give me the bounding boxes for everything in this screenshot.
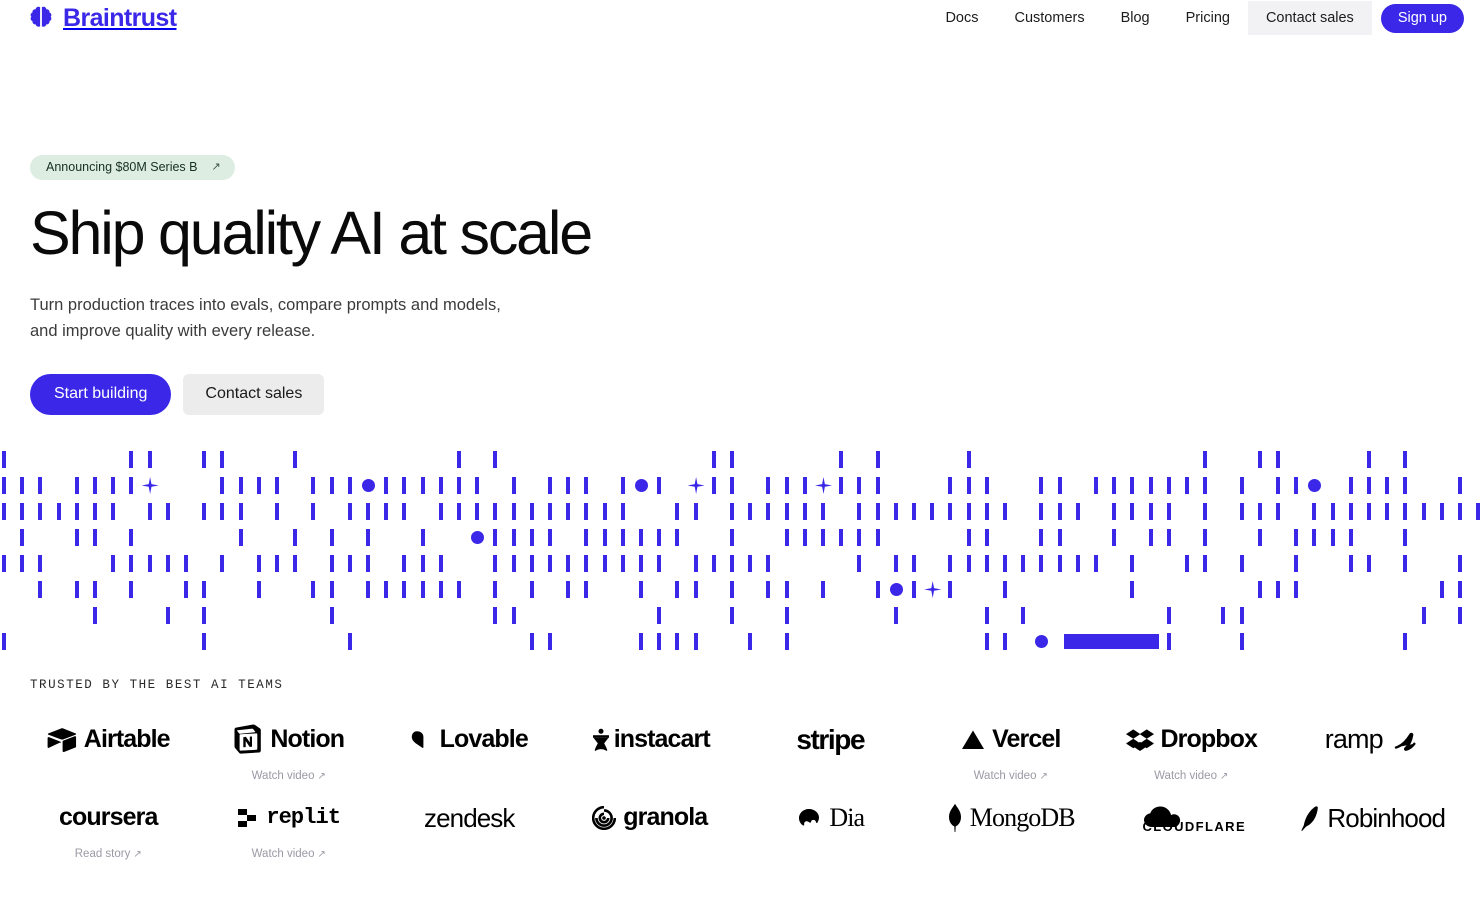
pattern-tick <box>730 607 734 624</box>
pattern-tick <box>785 529 789 546</box>
pattern-tick <box>493 581 497 598</box>
braintrust-logo-icon <box>28 5 54 31</box>
pattern-tick <box>1294 581 1298 598</box>
pattern-tick <box>493 451 497 468</box>
pattern-tick <box>1258 581 1262 598</box>
sign-up-button[interactable]: Sign up <box>1381 4 1464 33</box>
pattern-tick <box>930 503 934 520</box>
pattern-tick <box>1130 555 1134 572</box>
pattern-tick <box>1349 503 1353 520</box>
logo-cell-stripe: stripe <box>740 714 921 792</box>
logo-wordmark-zendesk: zendesk <box>424 805 515 831</box>
pattern-tick <box>584 477 588 494</box>
pattern-tick <box>1258 529 1262 546</box>
pattern-tick <box>1167 633 1171 650</box>
pattern-tick <box>894 503 898 520</box>
pattern-tick <box>1076 503 1080 520</box>
pattern-tick <box>876 451 880 468</box>
pattern-tick <box>421 555 425 572</box>
pattern-tick <box>566 477 570 494</box>
pattern-tick <box>2 633 6 650</box>
pattern-tick <box>639 529 643 546</box>
pattern-tick <box>20 477 24 494</box>
pattern-sparkle <box>924 581 941 598</box>
arrow-up-right-icon: ↗ <box>1220 771 1228 782</box>
pattern-tick <box>948 477 952 494</box>
pattern-tick <box>1385 477 1389 494</box>
pattern-tick <box>1458 607 1462 624</box>
pattern-tick <box>512 529 516 546</box>
granola-logo-icon <box>592 806 616 830</box>
pattern-tick <box>675 581 679 598</box>
pattern-tick <box>239 529 243 546</box>
pattern-tick <box>785 581 789 598</box>
logo-wordmark-coursera: coursera <box>59 805 157 830</box>
pattern-tick <box>220 503 224 520</box>
pattern-tick <box>1058 477 1062 494</box>
pattern-tick <box>57 503 61 520</box>
hero-subtitle: Turn production traces into evals, compa… <box>30 292 510 345</box>
pattern-tick <box>1422 607 1426 624</box>
pattern-tick <box>475 503 479 520</box>
pattern-tick <box>876 477 880 494</box>
contact-sales-button[interactable]: Contact sales <box>183 374 324 415</box>
logo-cell-instacart: instacart <box>560 714 741 792</box>
nav-link-customers[interactable]: Customers <box>996 1 1102 35</box>
pattern-tick <box>566 503 570 520</box>
pattern-tick <box>184 555 188 572</box>
pattern-tick <box>311 581 315 598</box>
mongodb-logo-icon <box>947 803 963 833</box>
logo-sub-label: Read story <box>75 848 131 860</box>
pattern-tick <box>129 555 133 572</box>
pattern-tick <box>366 503 370 520</box>
logo-art-stripe: stripe <box>796 720 864 760</box>
pattern-tick <box>530 555 534 572</box>
dia-logo-icon <box>796 807 822 829</box>
pattern-tick <box>348 477 352 494</box>
pattern-tick <box>657 555 661 572</box>
pattern-tick <box>712 555 716 572</box>
pattern-tick <box>712 451 716 468</box>
pattern-tick <box>20 555 24 572</box>
nav-link-docs[interactable]: Docs <box>927 1 996 35</box>
page-title: Ship quality AI at scale <box>30 203 1480 264</box>
pattern-tick <box>1331 529 1335 546</box>
pattern-tick <box>1203 477 1207 494</box>
pattern-tick <box>93 581 97 598</box>
pattern-tick <box>1039 529 1043 546</box>
arrow-up-right-icon: ↗ <box>317 849 325 860</box>
pattern-tick <box>1203 451 1207 468</box>
pattern-tick <box>93 503 97 520</box>
logo-art-notion: Notion <box>233 720 344 760</box>
pattern-tick <box>1349 529 1353 546</box>
pattern-dot <box>1308 479 1321 492</box>
pattern-tick <box>948 581 952 598</box>
pattern-tick <box>1367 503 1371 520</box>
pattern-tick <box>1458 503 1462 520</box>
arrow-up-right-icon: ↗ <box>211 162 220 173</box>
pattern-dot <box>1035 635 1048 648</box>
pattern-tick <box>639 581 643 598</box>
logo-cell-dropbox: DropboxWatch video↗ <box>1101 714 1282 792</box>
logo-wordmark-stripe: stripe <box>796 726 864 754</box>
pattern-tick <box>1240 477 1244 494</box>
pattern-tick <box>1403 477 1407 494</box>
pattern-tick <box>948 555 952 572</box>
pattern-tick <box>912 503 916 520</box>
pattern-tick <box>1167 607 1171 624</box>
pattern-tick <box>239 503 243 520</box>
logo-wordmark-airtable: Airtable <box>84 727 170 752</box>
pattern-tick <box>985 555 989 572</box>
notion-logo-icon <box>233 724 263 756</box>
pattern-tick <box>493 607 497 624</box>
pattern-tick <box>166 607 170 624</box>
pattern-tick <box>785 607 789 624</box>
pattern-tick <box>1203 529 1207 546</box>
logo-sub-label: Watch video <box>974 770 1037 782</box>
nav-link-contact-sales[interactable]: Contact sales <box>1248 1 1372 35</box>
logo-wordmark-lovable: Lovable <box>440 727 528 752</box>
pattern-tick <box>967 555 971 572</box>
pattern-tick <box>821 581 825 598</box>
pattern-tick <box>1458 581 1462 598</box>
pattern-tick <box>548 477 552 494</box>
nav-link-pricing[interactable]: Pricing <box>1168 1 1248 35</box>
pattern-tick <box>675 529 679 546</box>
pattern-tick <box>821 529 825 546</box>
logo-wordmark-ramp: ramp <box>1325 726 1383 753</box>
pattern-tick <box>2 503 6 520</box>
pattern-tick <box>566 555 570 572</box>
pattern-tick <box>603 529 607 546</box>
pattern-tick <box>366 581 370 598</box>
pattern-tick <box>1149 503 1153 520</box>
pattern-tick <box>857 503 861 520</box>
logo-sub-link-coursera[interactable]: Read story↗ <box>75 848 142 860</box>
pattern-tick <box>1294 555 1298 572</box>
robinhood-logo-icon <box>1298 804 1320 832</box>
pattern-tick <box>621 503 625 520</box>
pattern-tick <box>330 607 334 624</box>
pattern-tick <box>985 607 989 624</box>
logo-art-vercel: Vercel <box>961 720 1060 760</box>
pattern-tick <box>821 503 825 520</box>
pattern-tick <box>202 451 206 468</box>
logo-cell-mongodb: MongoDB <box>921 792 1102 870</box>
logo-cell-replit: replitWatch video↗ <box>199 792 380 870</box>
pattern-tick <box>439 477 443 494</box>
pattern-tick <box>1240 607 1244 624</box>
pattern-tick <box>657 607 661 624</box>
pattern-tick <box>1258 503 1262 520</box>
pattern-tick <box>1058 503 1062 520</box>
pattern-tick <box>1076 555 1080 572</box>
pattern-tick <box>1058 529 1062 546</box>
instacart-logo-icon <box>590 727 612 753</box>
pattern-tick <box>766 555 770 572</box>
pattern-tick <box>584 529 588 546</box>
pattern-tick <box>876 581 880 598</box>
pattern-tick <box>967 451 971 468</box>
pattern-tick <box>730 451 734 468</box>
pattern-tick <box>694 633 698 650</box>
pattern-tick <box>1112 529 1116 546</box>
logo-art-lovable: Lovable <box>411 720 528 760</box>
pattern-tick <box>1167 503 1171 520</box>
logo-art-coursera: coursera <box>59 798 157 838</box>
pattern-tick <box>857 529 861 546</box>
logo-wordmark-replit: replit <box>266 807 340 829</box>
pattern-tick <box>985 477 989 494</box>
pattern-tick <box>639 555 643 572</box>
pattern-tick <box>330 529 334 546</box>
pattern-tick <box>1003 633 1007 650</box>
logo-art-airtable: Airtable <box>47 720 170 760</box>
start-building-button[interactable]: Start building <box>30 374 171 415</box>
pattern-tick <box>202 607 206 624</box>
pattern-tick <box>166 503 170 520</box>
pattern-tick <box>1003 555 1007 572</box>
pattern-tick <box>730 581 734 598</box>
pattern-tick <box>785 633 789 650</box>
pattern-tick <box>876 529 880 546</box>
pattern-tick <box>93 607 97 624</box>
logo-art-zendesk: zendesk <box>424 798 515 838</box>
pattern-tick <box>584 555 588 572</box>
pattern-tick <box>75 477 79 494</box>
pattern-tick <box>967 503 971 520</box>
logo-sub-link-vercel[interactable]: Watch video↗ <box>974 770 1048 782</box>
pattern-tick <box>603 503 607 520</box>
pattern-tick <box>129 451 133 468</box>
pattern-tick <box>402 581 406 598</box>
pattern-tick <box>1276 581 1280 598</box>
pattern-tick <box>348 503 352 520</box>
pattern-tick <box>348 633 352 650</box>
pattern-tick <box>38 503 42 520</box>
arrow-up-right-icon: ↗ <box>317 771 325 782</box>
pattern-tick <box>1385 503 1389 520</box>
pattern-tick <box>93 529 97 546</box>
pattern-tick <box>1440 581 1444 598</box>
pattern-tick <box>366 555 370 572</box>
pattern-tick <box>1403 451 1407 468</box>
logo-cell-vercel: VercelWatch video↗ <box>921 714 1102 792</box>
nav-links-group: Docs Customers Blog Pricing Contact sale… <box>927 0 1464 36</box>
logo-sub-label: Watch video <box>252 770 315 782</box>
pattern-tick <box>1003 581 1007 598</box>
pattern-tick <box>475 477 479 494</box>
pattern-tick <box>1240 633 1244 650</box>
brand-home-link[interactable]: Braintrust <box>28 5 176 31</box>
pattern-tick <box>20 503 24 520</box>
pattern-tick <box>493 503 497 520</box>
pattern-tick <box>730 555 734 572</box>
pattern-tick <box>748 503 752 520</box>
pattern-tick <box>111 503 115 520</box>
airtable-logo-icon <box>47 727 77 753</box>
pattern-tick <box>275 503 279 520</box>
pattern-tick <box>730 503 734 520</box>
pattern-tick <box>202 633 206 650</box>
logo-sub-link-notion[interactable]: Watch video↗ <box>252 770 326 782</box>
pattern-tick <box>257 477 261 494</box>
pattern-tick <box>257 581 261 598</box>
pattern-tick <box>1458 477 1462 494</box>
pattern-tick <box>111 555 115 572</box>
pattern-tick <box>1367 555 1371 572</box>
pattern-tick <box>75 529 79 546</box>
lovable-logo-icon <box>411 730 433 750</box>
pattern-tick <box>275 477 279 494</box>
logo-wordmark-dropbox: Dropbox <box>1161 727 1257 752</box>
pattern-tick <box>457 451 461 468</box>
pattern-tick <box>566 581 570 598</box>
announcement-badge[interactable]: Announcing $80M Series B ↗ <box>30 155 235 180</box>
logo-wordmark-notion: Notion <box>270 727 344 752</box>
pattern-tick <box>457 477 461 494</box>
pattern-tick <box>584 503 588 520</box>
pattern-tick <box>639 633 643 650</box>
pattern-tick <box>1276 477 1280 494</box>
pattern-tick <box>530 529 534 546</box>
pattern-tick <box>384 503 388 520</box>
pattern-dot <box>890 583 903 596</box>
pattern-tick <box>421 529 425 546</box>
pattern-tick <box>730 529 734 546</box>
pattern-tick <box>1221 607 1225 624</box>
pattern-tick <box>512 607 516 624</box>
pattern-tick <box>1130 503 1134 520</box>
pattern-sparkle <box>815 477 832 494</box>
pattern-tick <box>803 529 807 546</box>
logo-art-replit: replit <box>237 798 340 838</box>
pattern-tick <box>657 529 661 546</box>
logo-sub-label: Watch video <box>1154 770 1217 782</box>
pattern-tick <box>148 555 152 572</box>
pattern-tick <box>421 581 425 598</box>
logo-sub-label: Watch video <box>252 848 315 860</box>
pattern-tick <box>330 555 334 572</box>
pattern-tick <box>748 555 752 572</box>
pattern-tick <box>20 529 24 546</box>
pattern-tick <box>2 555 6 572</box>
pattern-tick <box>548 529 552 546</box>
logo-cell-zendesk: zendesk <box>379 792 560 870</box>
pattern-highlight-bar <box>1064 634 1159 649</box>
logo-cell-granola: granola <box>560 792 741 870</box>
pattern-tick <box>202 581 206 598</box>
pattern-tick <box>1130 581 1134 598</box>
logo-cell-ramp: ramp <box>1282 714 1463 792</box>
pattern-tick <box>38 581 42 598</box>
trusted-by-label: TRUSTED BY THE BEST AI TEAMS <box>30 678 1480 692</box>
pattern-tick <box>1167 529 1171 546</box>
pattern-sparkle <box>142 477 159 494</box>
ramp-logo-icon <box>1393 728 1419 752</box>
pattern-tick <box>1240 503 1244 520</box>
pattern-tick <box>1185 477 1189 494</box>
pattern-tick <box>621 477 625 494</box>
pattern-tick <box>985 633 989 650</box>
pattern-tick <box>1367 477 1371 494</box>
pattern-tick <box>730 477 734 494</box>
pattern-tick <box>694 555 698 572</box>
logo-wordmark-robinhood: Robinhood <box>1327 805 1445 831</box>
pattern-tick <box>1149 529 1153 546</box>
logo-cell-robinhood: Robinhood <box>1282 792 1463 870</box>
pattern-tick <box>220 555 224 572</box>
pattern-tick <box>1112 477 1116 494</box>
pattern-tick <box>839 477 843 494</box>
pattern-tick <box>530 633 534 650</box>
pattern-tick <box>93 477 97 494</box>
pattern-tick <box>402 503 406 520</box>
logo-art-ramp: ramp <box>1325 720 1419 760</box>
pattern-tick <box>311 503 315 520</box>
pattern-tick <box>220 451 224 468</box>
logo-art-dropbox: Dropbox <box>1126 720 1257 760</box>
pattern-tick <box>1403 633 1407 650</box>
nav-link-blog[interactable]: Blog <box>1103 1 1168 35</box>
pattern-tick <box>621 529 625 546</box>
pattern-tick <box>493 529 497 546</box>
pattern-tick <box>912 581 916 598</box>
pattern-tick <box>1349 477 1353 494</box>
pattern-tick <box>985 529 989 546</box>
pattern-tick <box>184 581 188 598</box>
pattern-tick <box>166 555 170 572</box>
pattern-tick <box>967 529 971 546</box>
announcement-badge-label: Announcing $80M Series B <box>46 161 197 174</box>
pattern-tick <box>1003 503 1007 520</box>
pattern-tick <box>293 555 297 572</box>
pattern-tick <box>1039 555 1043 572</box>
vercel-logo-icon <box>961 729 985 750</box>
logo-sub-link-replit[interactable]: Watch video↗ <box>252 848 326 860</box>
pattern-tick <box>785 477 789 494</box>
top-navigation-bar: Braintrust Docs Customers Blog Pricing C… <box>0 0 1480 36</box>
pattern-tick <box>1039 477 1043 494</box>
pattern-tick <box>1440 503 1444 520</box>
pattern-tick <box>894 607 898 624</box>
logo-sub-link-dropbox[interactable]: Watch video↗ <box>1154 770 1228 782</box>
pattern-tick <box>1167 477 1171 494</box>
pattern-dot <box>471 531 484 544</box>
pattern-tick <box>839 451 843 468</box>
pattern-tick <box>384 477 388 494</box>
pattern-tick <box>584 581 588 598</box>
logo-art-cloudflare: CLOUDFLARE <box>1136 798 1246 838</box>
pattern-tick <box>1203 555 1207 572</box>
pattern-tick <box>311 477 315 494</box>
logo-cell-notion: NotionWatch video↗ <box>199 714 380 792</box>
pattern-tick <box>1240 555 1244 572</box>
pattern-tick <box>239 477 243 494</box>
pattern-tick <box>402 477 406 494</box>
pattern-tick <box>712 477 716 494</box>
logo-cell-coursera: courseraRead story↗ <box>18 792 199 870</box>
pattern-tick <box>857 477 861 494</box>
pattern-tick <box>1458 555 1462 572</box>
logo-wordmark-granola: granola <box>623 805 707 830</box>
pattern-tick <box>548 555 552 572</box>
pattern-tick <box>421 477 425 494</box>
pattern-tick <box>512 477 516 494</box>
